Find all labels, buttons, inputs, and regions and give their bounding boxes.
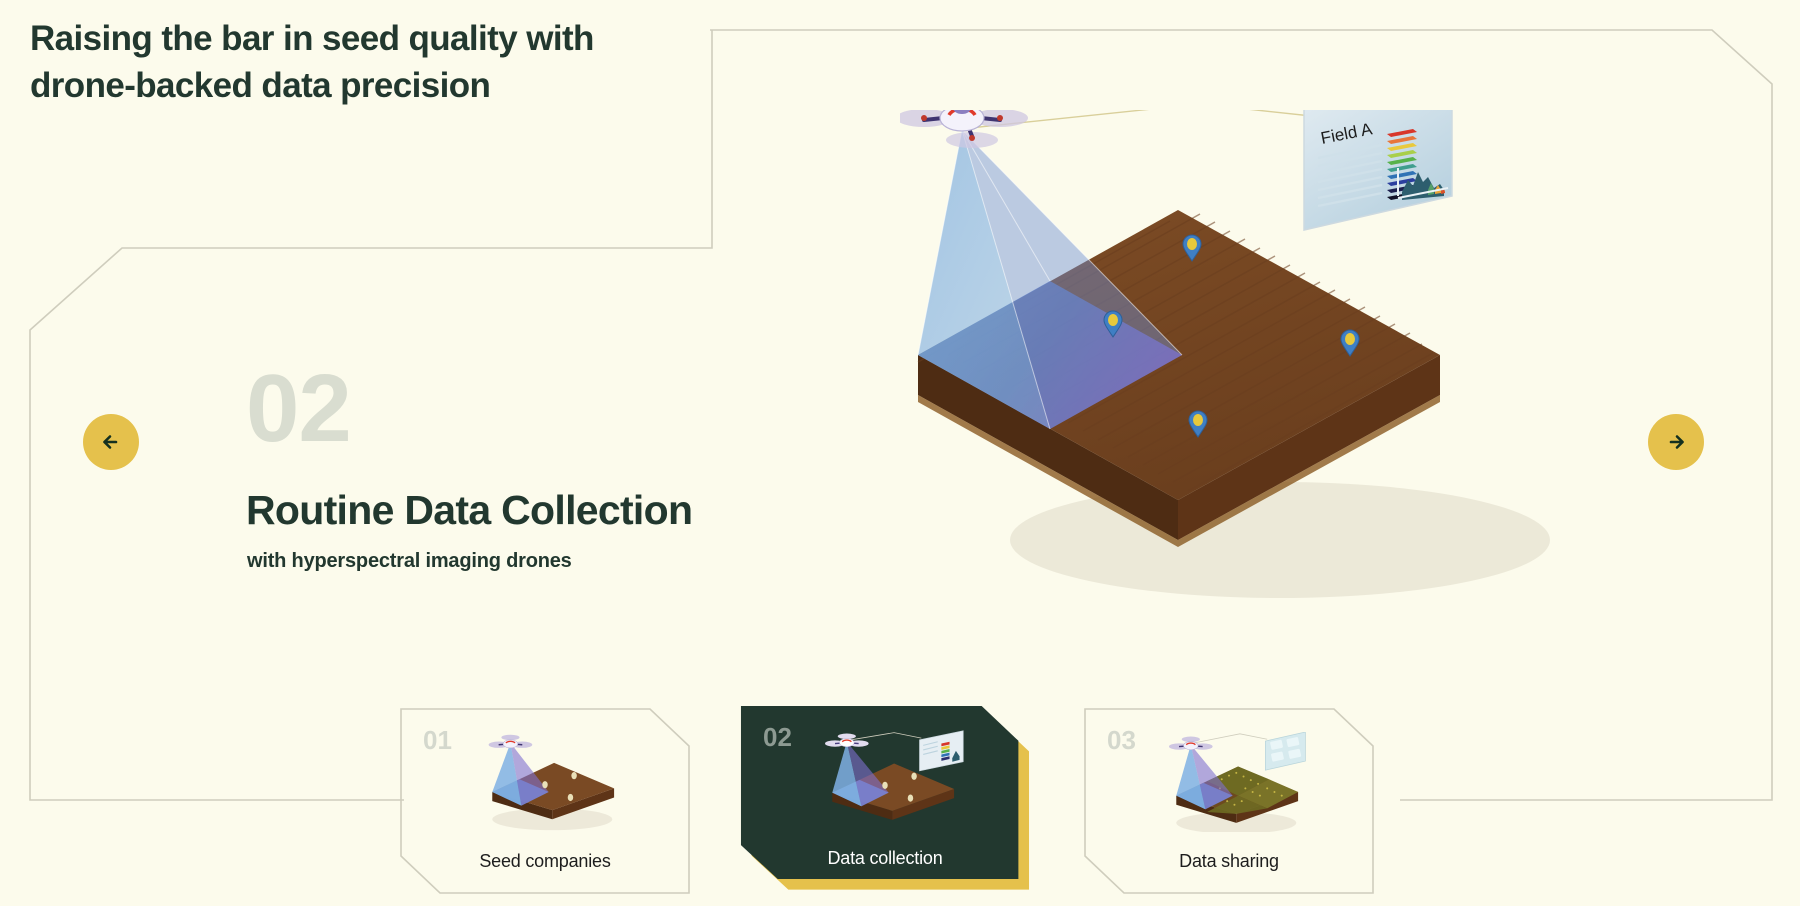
field-scan-illustration: Field A [900,110,1660,630]
step-card-data-sharing[interactable]: 03 [1084,708,1374,894]
step-card-seed-companies[interactable]: 01 See [400,708,690,894]
active-step-subtitle: with hyperspectral imaging drones [247,550,572,573]
previous-step-button[interactable] [83,414,139,470]
step-card-data-collection[interactable]: 02 [740,705,1030,891]
drone-over-crop-field-with-cards-icon [1129,732,1329,832]
step-carousel: 01 See [400,705,1400,891]
active-step-title: Routine Data Collection [246,488,692,533]
page-title: Raising the bar in seed quality with dro… [30,16,730,109]
slide-canvas: Raising the bar in seed quality with dro… [0,0,1800,906]
page-title-line-1: Raising the bar in seed quality with [30,16,730,63]
drone-scanning-field-with-panel-icon [785,729,985,829]
arrow-left-icon [97,428,125,456]
step-card-label: Data collection [740,848,1030,869]
arrow-right-icon [1662,428,1690,456]
field-data-panel: Field A [1304,110,1452,230]
step-card-label: Seed companies [400,851,690,872]
drone-over-bare-field-icon [445,732,645,832]
active-step-number: 02 [246,361,351,457]
page-title-line-2: drone-backed data precision [30,63,730,110]
quadcopter-drone-icon [900,110,1028,148]
step-card-label: Data sharing [1084,851,1374,872]
